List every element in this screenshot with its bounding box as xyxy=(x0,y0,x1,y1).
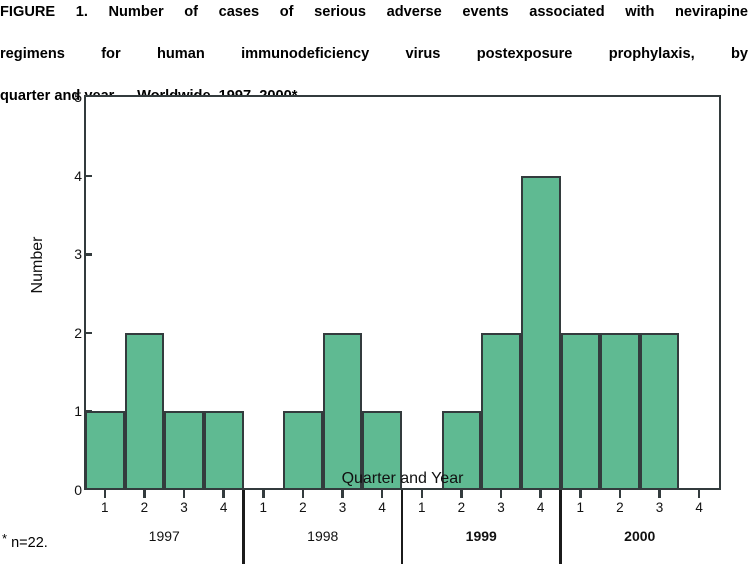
y-axis-tick-marks xyxy=(0,88,748,508)
x-axis-year-labels: 1997199819992000 xyxy=(85,528,721,550)
x-axis-year-label: 2000 xyxy=(561,528,720,545)
figure-caption-line-1: FIGURE 1. Number of cases of serious adv… xyxy=(0,2,748,44)
y-axis-tick-mark xyxy=(84,175,92,178)
y-axis-tick-mark xyxy=(84,332,92,335)
footnote-marker: * xyxy=(2,531,7,546)
bar-chart: Number 012345 1234123412341234 199719981… xyxy=(0,88,748,508)
figure-caption-line-2: regimens for human immunodeficiency viru… xyxy=(0,44,748,86)
x-axis-year-label: 1998 xyxy=(244,528,403,545)
x-axis-year-label: 1997 xyxy=(85,528,244,545)
y-axis-tick-mark xyxy=(84,253,92,256)
x-axis-year-label: 1999 xyxy=(402,528,561,545)
footnote-text: n=22. xyxy=(11,535,48,551)
y-axis-tick-mark xyxy=(84,410,92,413)
footnote: * n=22. xyxy=(2,532,48,551)
